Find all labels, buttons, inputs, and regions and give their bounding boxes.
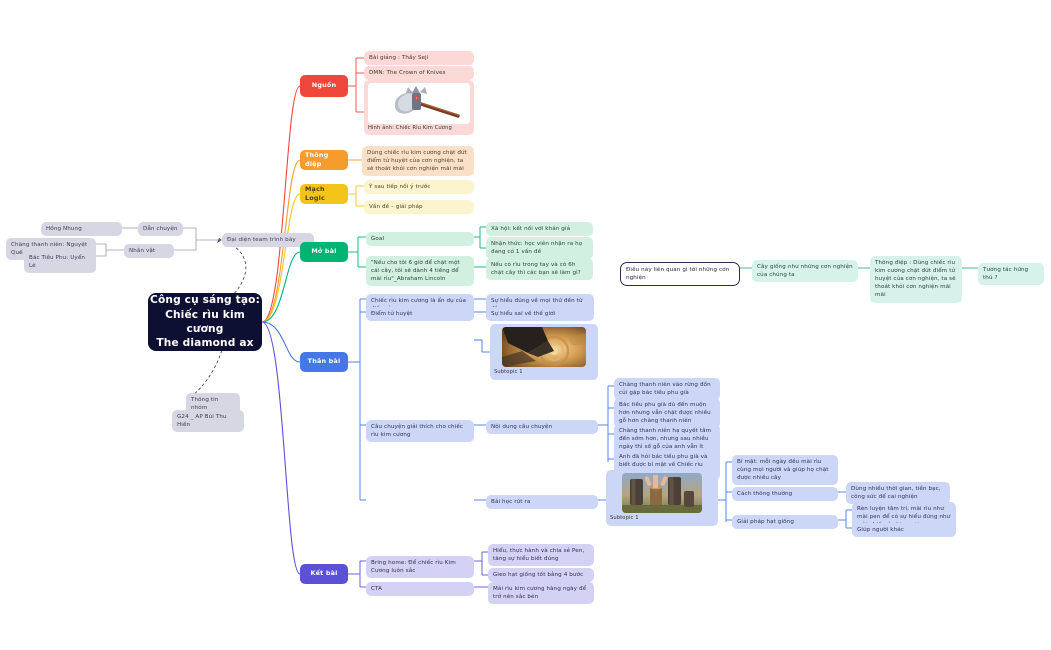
node-goal-child-0[interactable]: Xã hội: kết nối với khán giả xyxy=(486,222,593,236)
node-tree-analogy[interactable]: Cây giống như những cơn nghiện của chúng… xyxy=(752,260,858,282)
branch-chip-than-bai[interactable]: Thân bài xyxy=(300,352,348,372)
node-group-code[interactable]: G24 _ AP Bùi Thu Hiền xyxy=(172,410,244,432)
node-than-bai-child-1[interactable]: Sự hiểu sai về thế giới xyxy=(486,307,594,321)
node-mach-logic-item-0[interactable]: Ý sau tiếp nối ý trước xyxy=(364,180,474,194)
node-bring-home-label[interactable]: Bring home: Để chiếc rìu Kim Cương luôn … xyxy=(366,556,474,578)
node-story-content-label[interactable]: Nội dung câu chuyện xyxy=(486,420,598,434)
central-topic-line3: The diamond ax xyxy=(156,336,253,350)
node-goal-child-1[interactable]: Nhận thức: học viên nhận ra họ đang có 1… xyxy=(486,237,593,259)
diamond-axe-illustration xyxy=(368,83,470,124)
node-story-label[interactable]: Câu chuyện giải thích cho chiếc rìu kim … xyxy=(366,420,474,442)
node-mach-logic-item-1[interactable]: Vấn đề – giải pháp xyxy=(364,200,474,214)
node-engagement[interactable]: Tương tác hứng thú ? xyxy=(978,263,1044,285)
node-solution-0-child-0[interactable]: Dùng nhiều thời gian, tiền bạc, công sức… xyxy=(846,482,950,504)
node-nguon-image-caption: Hình ảnh: Chiếc Rìu Kim Cương xyxy=(368,125,470,133)
node-subtopic-caption-2: Subtopic 1 xyxy=(610,515,714,523)
branch-chip-mo-bai[interactable]: Mở bài xyxy=(300,242,348,262)
node-message-summary[interactable]: Thông điệp : Dùng chiếc rìu kim cương ch… xyxy=(870,256,962,303)
node-subtopic-caption-1: Subtopic 1 xyxy=(494,369,594,377)
node-character-2[interactable]: Bác Tiều Phu: Uyển Lê xyxy=(24,251,96,273)
node-thong-diep-text[interactable]: Dùng chiếc rìu kim cương chặt đứt điểm t… xyxy=(362,146,474,176)
node-nguon-image-card[interactable]: Hình ảnh: Chiếc Rìu Kim Cương xyxy=(364,80,474,135)
node-story-point-0[interactable]: Chàng thanh niên vào rừng đốn củi gặp bá… xyxy=(614,378,720,400)
node-solution-label-1[interactable]: Giải pháp hạt giống xyxy=(732,515,838,529)
node-than-bai-item-1[interactable]: Điểm tử huyệt xyxy=(366,307,474,321)
branch-chip-nguon[interactable]: Nguồn xyxy=(300,75,348,97)
node-mo-bai-goal[interactable]: Goal xyxy=(366,232,474,246)
node-lesson-label[interactable]: Bài học rút ra xyxy=(486,495,598,509)
node-secret[interactable]: Bí mật: mỗi ngày đều mài rìu cùng mọi ng… xyxy=(732,455,838,485)
central-topic-line1: Công cụ sáng tạo: xyxy=(150,293,260,307)
wood-logs-photo xyxy=(622,473,702,513)
node-bring-home-child-1[interactable]: Gieo hạt giống tốt bằng 4 bước xyxy=(488,568,594,582)
node-solution-label-0[interactable]: Cách thông thường xyxy=(732,487,838,501)
node-subtopic-card-2[interactable]: Subtopic 1 xyxy=(606,470,718,526)
node-bring-home-child-0[interactable]: Hiểu, thực hành và chia sẻ Pen, tăng sự … xyxy=(488,544,594,566)
node-nguon-item-0[interactable]: Bài giảng : Thầy Seji xyxy=(364,51,474,65)
node-narrator-name[interactable]: Hồng Nhung xyxy=(41,222,122,236)
node-cta-child-0[interactable]: Mài rìu kim cương hàng ngày để trở nên s… xyxy=(488,582,594,604)
central-topic[interactable]: Công cụ sáng tạo: Chiếc rìu kim cương Th… xyxy=(148,293,262,351)
node-mo-bai-quote[interactable]: "Nếu cho tôi 6 giờ để chặt một cái cây, … xyxy=(366,256,474,286)
node-cta-label[interactable]: CTA xyxy=(366,582,474,596)
node-solution-1-child-1[interactable]: Giúp người khác xyxy=(852,523,956,537)
branch-chip-ket-bai[interactable]: Kết bài xyxy=(300,564,348,584)
node-nguon-item-1[interactable]: DMN: The Crown of Knives xyxy=(364,66,474,80)
central-topic-line2: Chiếc rìu kim cương xyxy=(148,308,262,337)
branch-chip-thong-diep[interactable]: Thông điệp xyxy=(300,150,348,170)
node-narrator-role[interactable]: Dẫn chuyện xyxy=(138,222,183,236)
node-quote-child[interactable]: Nếu có rìu trong tay và có 6h chặt cây t… xyxy=(486,258,593,280)
node-addiction-question[interactable]: Điều này liên quan gì tới những cơn nghi… xyxy=(620,262,740,286)
branch-chip-mach-logic[interactable]: Mạch Logic xyxy=(300,184,348,204)
mindmap-canvas[interactable]: Công cụ sáng tạo: Chiếc rìu kim cương Th… xyxy=(0,0,1051,650)
axe-blade-closeup-photo xyxy=(502,327,586,367)
node-subtopic-card-1[interactable]: Subtopic 1 xyxy=(490,324,598,380)
node-characters-role[interactable]: Nhân vật xyxy=(124,244,174,258)
